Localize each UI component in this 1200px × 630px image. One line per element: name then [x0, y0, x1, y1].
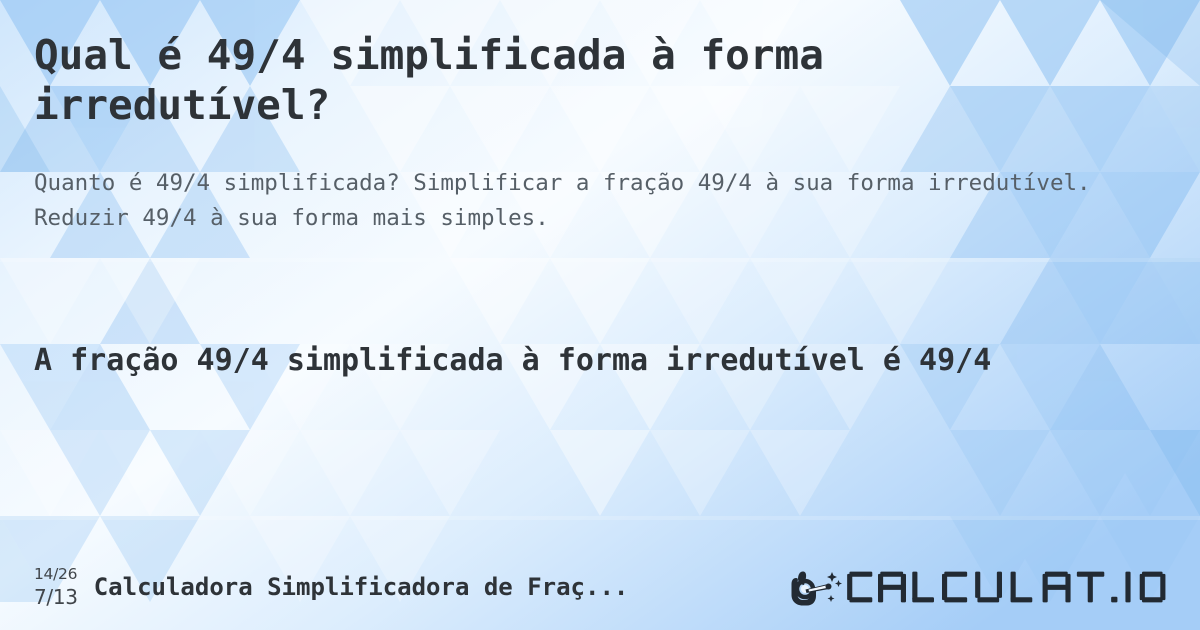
page-title: Qual é 49/4 simplificada à forma irredut…: [34, 30, 1044, 130]
brand-wordmark: [846, 567, 1166, 607]
page-subtitle: Quanto é 49/4 simplificada? Simplificar …: [34, 166, 1166, 236]
hand-magic-wand-icon: [790, 567, 842, 607]
footer: 14/26 7/13 Calculadora Simplificadora de…: [0, 544, 1200, 630]
share-card: Qual é 49/4 simplificada à forma irredut…: [0, 0, 1200, 630]
content-area: Qual é 49/4 simplificada à forma irredut…: [0, 0, 1200, 630]
example-fraction-original: 14/26: [34, 567, 77, 583]
tool-name-label: Calculadora Simplificadora de Fraç...: [94, 573, 629, 601]
footer-left-group: 14/26 7/13 Calculadora Simplificadora de…: [34, 567, 770, 607]
example-fraction-simplified: 7/13: [34, 587, 78, 607]
example-fraction-badge: 14/26 7/13: [34, 567, 78, 607]
answer-text: A fração 49/4 simplificada à forma irred…: [34, 340, 1164, 383]
brand-logo[interactable]: [790, 567, 1166, 607]
